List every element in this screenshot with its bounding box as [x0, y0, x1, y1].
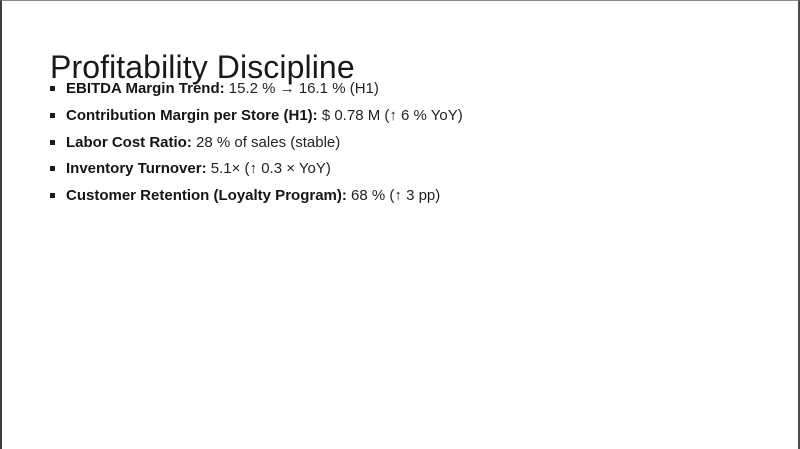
square-bullet-icon	[50, 113, 55, 118]
square-bullet-icon	[50, 193, 55, 198]
bullet-value: $ 0.78 M (↑ 6 % YoY)	[322, 107, 463, 124]
bullet-value: 68 % (↑ 3 pp)	[351, 187, 440, 204]
list-item: Contribution Margin per Store (H1): $ 0.…	[48, 108, 463, 124]
list-item: Inventory Turnover: 5.1× (↑ 0.3 × YoY)	[48, 161, 463, 177]
list-item: Labor Cost Ratio: 28 % of sales (stable)	[48, 135, 463, 151]
square-bullet-icon	[50, 166, 55, 171]
bullet-value: 5.1× (↑ 0.3 × YoY)	[211, 160, 331, 177]
bullet-label: EBITDA Margin Trend:	[66, 80, 225, 97]
square-bullet-icon	[50, 86, 55, 91]
bullet-label: Inventory Turnover:	[66, 160, 207, 177]
list-item: EBITDA Margin Trend: 15.2 % → 16.1 % (H1…	[48, 81, 463, 97]
bullet-list: EBITDA Margin Trend: 15.2 % → 16.1 % (H1…	[48, 81, 463, 215]
bullet-value: 15.2 % → 16.1 % (H1)	[229, 80, 379, 97]
bullet-label: Contribution Margin per Store (H1):	[66, 107, 318, 124]
slide-content-area: Profitability Discipline EBITDA Margin T…	[48, 1, 778, 449]
square-bullet-icon	[50, 140, 55, 145]
presentation-slide: Profitability Discipline EBITDA Margin T…	[0, 0, 800, 449]
list-item: Customer Retention (Loyalty Program): 68…	[48, 188, 463, 204]
bullet-value: 28 % of sales (stable)	[196, 134, 340, 151]
bullet-label: Labor Cost Ratio:	[66, 134, 192, 151]
bullet-label: Customer Retention (Loyalty Program):	[66, 187, 347, 204]
